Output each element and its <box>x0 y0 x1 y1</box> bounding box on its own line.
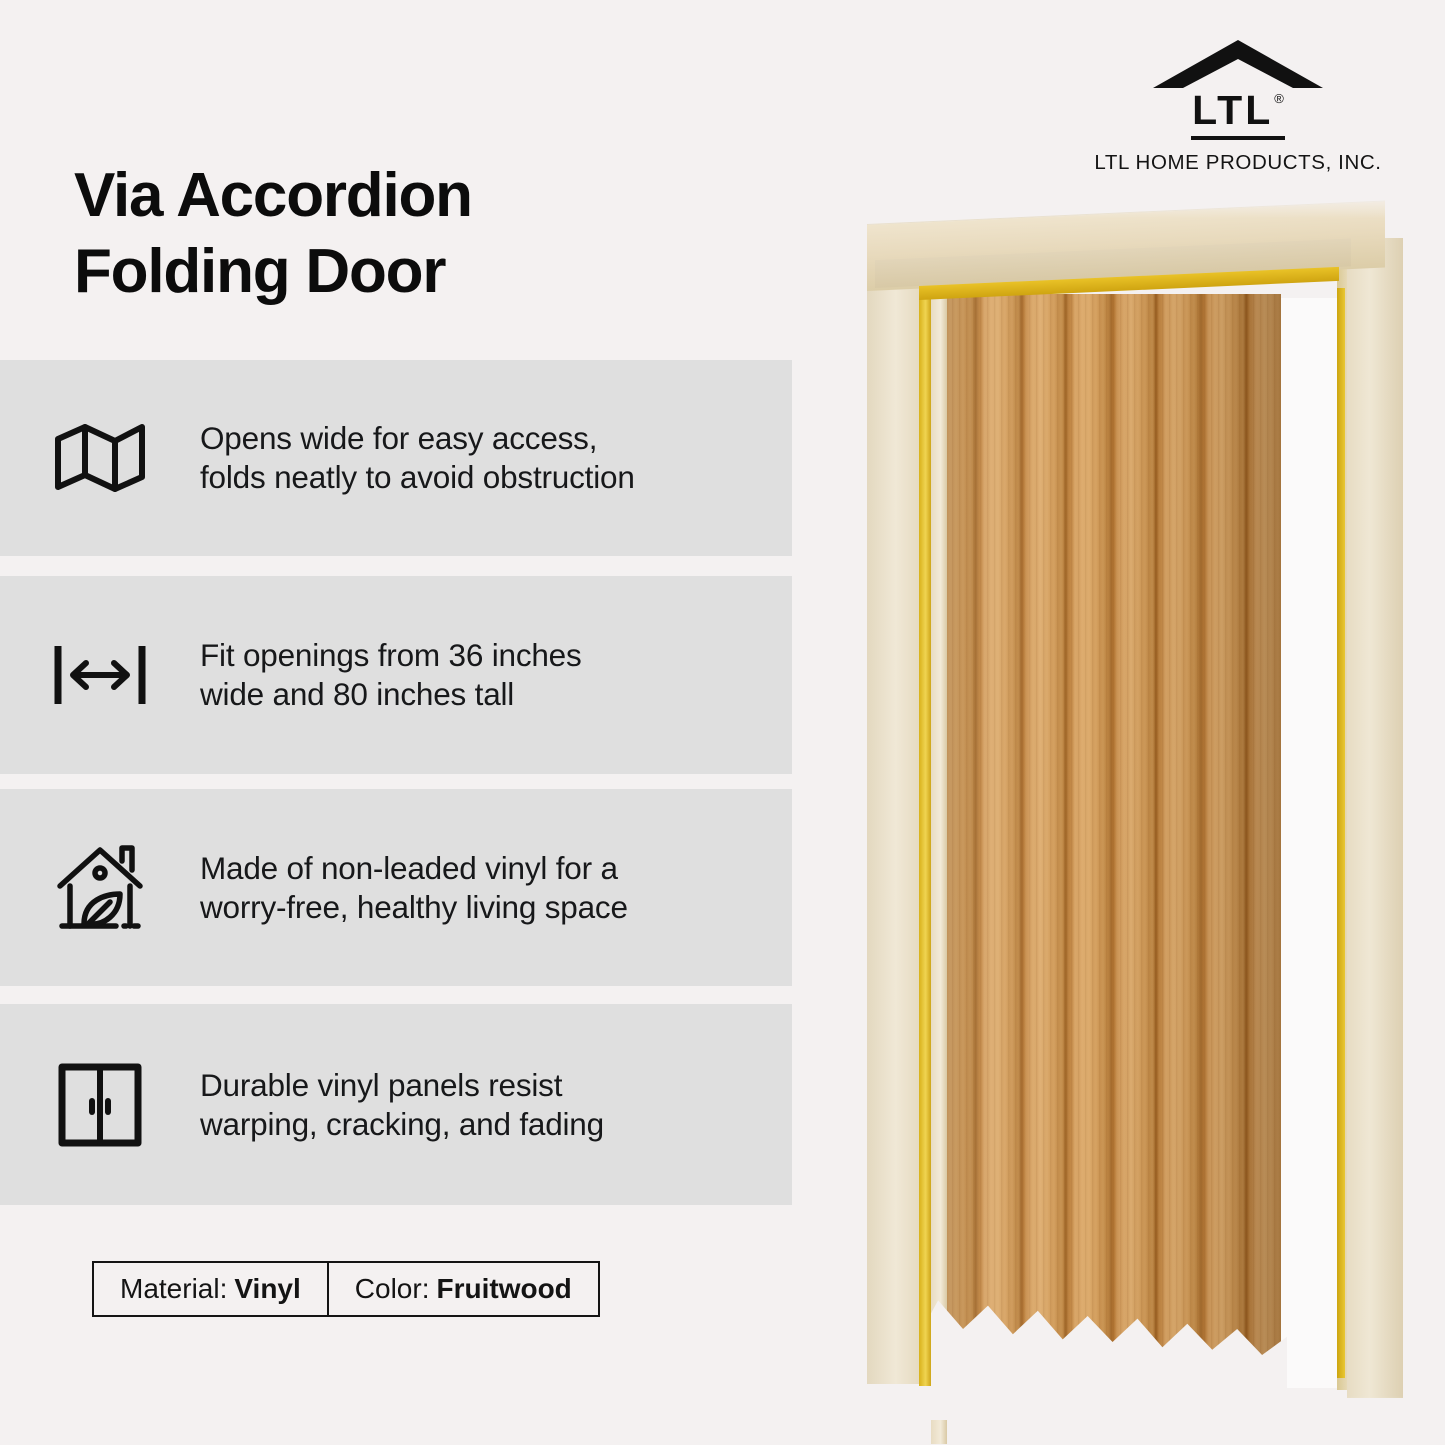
feature-row-3: Made of non-leaded vinyl for a worry-fre… <box>0 789 792 986</box>
door-left-leaf <box>931 294 947 1444</box>
house-roof-chevron-icon <box>1153 40 1323 92</box>
spec-color-value: Fruitwood <box>436 1273 571 1305</box>
infographic-canvas: LTL ® LTL HOME PRODUCTS, INC. Via Accord… <box>0 0 1445 1445</box>
feature-text-4: Durable vinyl panels resist warping, cra… <box>200 1066 622 1144</box>
company-name: LTL HOME PRODUCTS, INC. <box>1073 151 1403 175</box>
door-frame-left-jamb <box>867 254 919 1384</box>
spec-color: Color:Fruitwood <box>327 1263 598 1315</box>
logo-underline-rule <box>1191 136 1285 140</box>
feature-text-3: Made of non-leaded vinyl for a worry-fre… <box>200 849 646 927</box>
accordion-folding-door-photo <box>845 190 1425 1420</box>
double-door-icon <box>0 1062 200 1148</box>
spec-material-label: Material: <box>120 1273 227 1305</box>
width-measure-arrow-icon <box>0 640 200 710</box>
feature-row-2: Fit openings from 36 inches wide and 80 … <box>0 576 792 774</box>
folded-map-icon-glyph <box>54 421 146 495</box>
door-frame-right-jamb <box>1347 238 1403 1398</box>
logo-wordmark: LTL ® <box>1153 90 1323 131</box>
brand-logo: LTL ® LTL HOME PRODUCTS, INC. <box>1073 40 1403 175</box>
accordion-door-panels <box>931 294 1281 1419</box>
registered-trademark-icon: ® <box>1274 92 1284 105</box>
feature-text-2: Fit openings from 36 inches wide and 80 … <box>200 636 600 714</box>
page-title: Via Accordion Folding Door <box>74 158 472 310</box>
spec-bar: Material:Vinyl Color:Fruitwood <box>92 1261 600 1317</box>
feature-row-1: Opens wide for easy access, folds neatly… <box>0 360 792 556</box>
door-opening-gap <box>1281 298 1337 1388</box>
width-measure-arrow-icon-glyph <box>52 640 148 710</box>
spec-color-label: Color: <box>355 1273 430 1305</box>
spec-material: Material:Vinyl <box>94 1263 327 1315</box>
folded-map-icon <box>0 421 200 495</box>
door-shading-overlay <box>931 294 1281 1419</box>
double-door-icon-glyph <box>57 1062 143 1148</box>
spec-material-value: Vinyl <box>234 1273 300 1305</box>
logo-ltl-text: LTL <box>1192 90 1273 131</box>
logo-mark: LTL ® <box>1153 40 1323 145</box>
door-track-gold-right <box>1337 288 1345 1378</box>
eco-house-leaf-icon <box>0 842 200 934</box>
eco-house-leaf-icon-glyph <box>54 842 146 934</box>
feature-row-4: Durable vinyl panels resist warping, cra… <box>0 1004 792 1205</box>
feature-text-1: Opens wide for easy access, folds neatly… <box>200 419 653 497</box>
